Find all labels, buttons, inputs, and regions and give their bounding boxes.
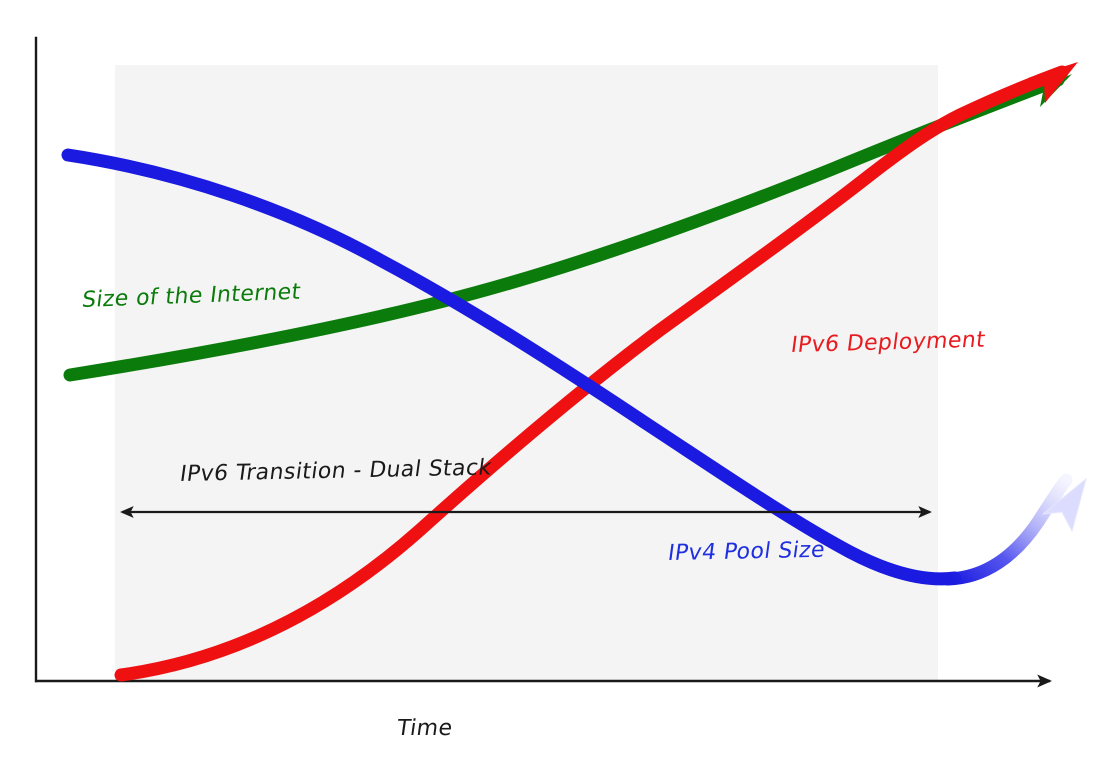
- series-label-ipv4-pool-size: IPv4 Pool Size: [666, 538, 826, 566]
- series-line-ipv4-pool-size-projection: [948, 480, 1066, 579]
- chart-canvas: [0, 0, 1116, 775]
- x-axis-label: Time: [395, 716, 454, 741]
- ipv6-transition-chart: Size of the Internet IPv6 Deployment IPv…: [0, 0, 1116, 775]
- transition-shaded-region: [115, 65, 938, 680]
